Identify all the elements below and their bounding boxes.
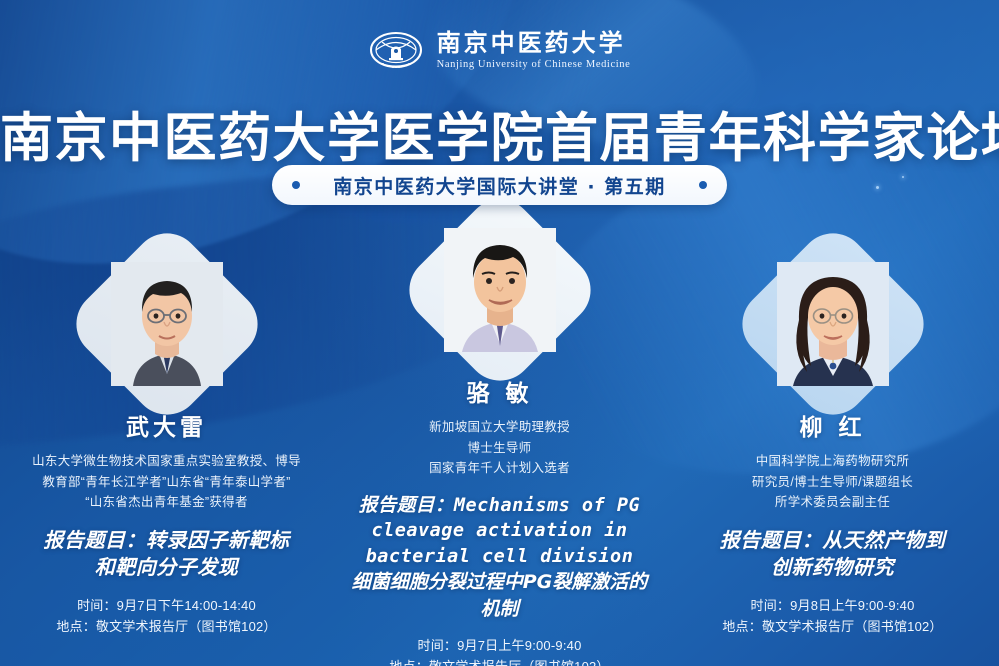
avatar — [759, 250, 907, 398]
talk-location: 地点：敬文学术报告厅（图书馆102） — [676, 616, 989, 637]
university-name-cn: 南京中医药大学 — [437, 31, 626, 55]
forum-poster: 南京中医药大学 Nanjing University of Chinese Me… — [0, 0, 999, 666]
subtitle-text: 南京中医药大学国际大讲堂 · 第五期 — [333, 172, 665, 199]
subtitle-pill: 南京中医药大学国际大讲堂 · 第五期 — [272, 165, 727, 205]
affiliation-line: 国家青年千人计划入选者 — [343, 458, 656, 479]
speaker-affiliation: 山东大学微生物技术国家重点实验室教授、博导 教育部“青年长江学者”山东省“青年泰… — [10, 451, 323, 513]
affiliation-line: “山东省杰出青年基金”获得者 — [10, 492, 323, 513]
talk-title-line: cleavage activation in — [343, 518, 656, 544]
affiliation-line: 博士生导师 — [343, 438, 656, 459]
talk-title-cn-subtitle: 细菌细胞分裂过程中PG裂解激活的机制 — [343, 569, 656, 621]
talk-title-line: 创新药物研究 — [676, 554, 989, 582]
talk-time: 时间：9月8日上午9:00-9:40 — [676, 595, 989, 616]
pill-dot-right-icon — [699, 181, 707, 189]
page-title: 南京中医药大学医学院首届青年科学家论坛 — [0, 96, 999, 172]
talk-location: 地点：敬文学术报告厅（图书馆102） — [10, 616, 323, 637]
affiliation-line: 中国科学院上海药物研究所 — [676, 451, 989, 472]
talk-meta: 时间：9月8日上午9:00-9:40 地点：敬文学术报告厅（图书馆102） — [676, 595, 989, 637]
talk-title: 报告题目：从天然产物到 创新药物研究 — [676, 527, 989, 582]
avatar — [93, 250, 241, 398]
speaker-portrait-icon — [444, 228, 556, 352]
speaker-affiliation: 中国科学院上海药物研究所 研究员/博士生导师/课题组长 所学术委员会副主任 — [676, 451, 989, 513]
talk-meta: 时间：9月7日下午14:00-14:40 地点：敬文学术报告厅（图书馆102） — [10, 595, 323, 637]
affiliation-line: 山东大学微生物技术国家重点实验室教授、博导 — [10, 451, 323, 472]
talk-title-line: 和靶向分子发现 — [10, 554, 323, 582]
talk-title-line: 报告题目：从天然产物到 — [676, 527, 989, 555]
speaker-portrait-icon — [111, 262, 223, 386]
speaker-card-right: 柳 红 中国科学院上海药物研究所 研究员/博士生导师/课题组长 所学术委员会副主… — [666, 250, 999, 637]
speaker-card-left: 武大雷 山东大学微生物技术国家重点实验室教授、博导 教育部“青年长江学者”山东省… — [0, 250, 333, 637]
speaker-affiliation: 新加坡国立大学助理教授 博士生导师 国家青年千人计划入选者 — [343, 417, 656, 479]
affiliation-line: 教育部“青年长江学者”山东省“青年泰山学者” — [10, 472, 323, 493]
university-name-en: Nanjing University of Chinese Medicine — [437, 60, 631, 71]
affiliation-line: 所学术委员会副主任 — [676, 492, 989, 513]
university-emblem-icon — [369, 28, 423, 73]
poster-header: 南京中医药大学 Nanjing University of Chinese Me… — [0, 28, 999, 73]
talk-meta: 时间：9月7日上午9:00-9:40 地点：敬文学术报告厅（图书馆102） — [343, 635, 656, 666]
subtitle-pill-wrapper: 南京中医药大学国际大讲堂 · 第五期 — [0, 165, 999, 205]
speaker-card-center: 骆 敏 新加坡国立大学助理教授 博士生导师 国家青年千人计划入选者 报告题目：M… — [333, 216, 666, 666]
talk-time: 时间：9月7日上午9:00-9:40 — [343, 635, 656, 656]
talk-time: 时间：9月7日下午14:00-14:40 — [10, 595, 323, 616]
talk-title-line: bacterial cell division — [343, 544, 656, 570]
affiliation-line: 新加坡国立大学助理教授 — [343, 417, 656, 438]
talk-title: 报告题目：转录因子新靶标 和靶向分子发现 — [10, 527, 323, 582]
avatar — [426, 216, 574, 364]
pill-dot-left-icon — [292, 181, 300, 189]
speaker-portrait-icon — [777, 262, 889, 386]
speakers-row: 武大雷 山东大学微生物技术国家重点实验室教授、博导 教育部“青年长江学者”山东省… — [0, 238, 999, 666]
talk-title: 报告题目：Mechanisms of PG cleavage activatio… — [343, 493, 656, 622]
talk-location: 地点：敬文学术报告厅（图书馆102） — [343, 656, 656, 666]
talk-title-line: 报告题目：Mechanisms of PG — [343, 493, 656, 519]
talk-title-line: 报告题目：转录因子新靶标 — [10, 527, 323, 555]
affiliation-line: 研究员/博士生导师/课题组长 — [676, 472, 989, 493]
university-logotype: 南京中医药大学 Nanjing University of Chinese Me… — [437, 31, 631, 71]
